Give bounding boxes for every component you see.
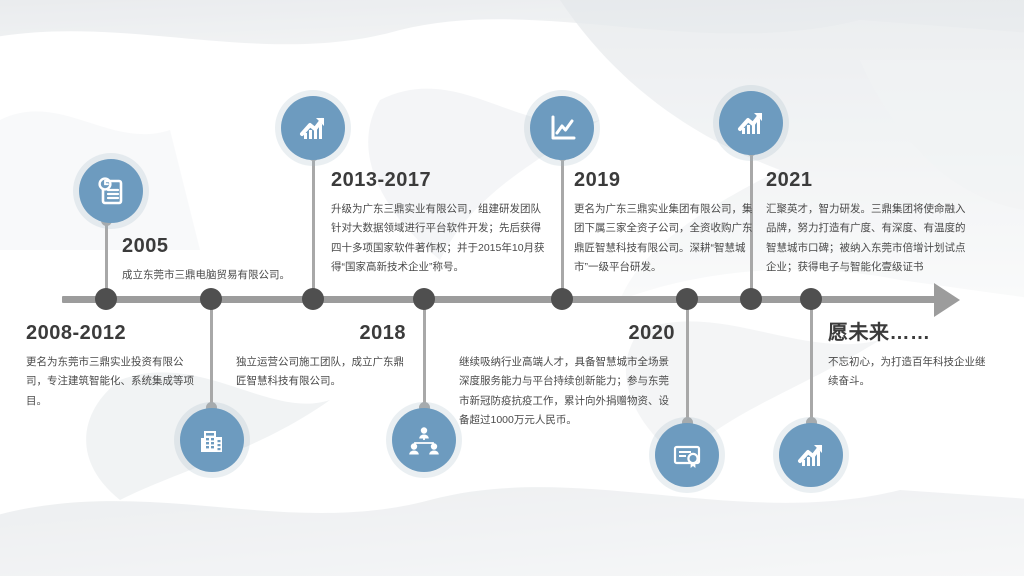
- axis-node-2021[interactable]: [740, 288, 762, 310]
- line-chart-icon: [544, 110, 580, 146]
- timeline-slide: 2005 成立东莞市三鼎电脑贸易有限公司。 2008-2012 更名为东莞市三鼎…: [0, 0, 1024, 576]
- stem-2008: [210, 298, 213, 408]
- milestone-year: 2021: [766, 169, 971, 191]
- milestone-2019: 2019 更名为广东三鼎实业集团有限公司，集团下属三家全资子公司，全资收购广东鼎…: [574, 169, 759, 278]
- icon-bubble-2021[interactable]: [719, 91, 783, 155]
- milestone-2018: 2018 独立运营公司施工团队，成立广东鼎匠智慧科技有限公司。: [236, 322, 406, 392]
- stem-future: [810, 298, 813, 423]
- milestone-description: 不忘初心，为打造百年科技企业继续奋斗。: [828, 353, 993, 392]
- milestone-description: 成立东莞市三鼎电脑贸易有限公司。: [122, 266, 322, 285]
- icon-bubble-2005[interactable]: [79, 159, 143, 223]
- bar-chart-growth-icon: [793, 437, 829, 473]
- milestone-year: 2005: [122, 235, 322, 257]
- axis-node-future[interactable]: [800, 288, 822, 310]
- icon-bubble-2013[interactable]: [281, 96, 345, 160]
- timeline-arrow-icon: [934, 283, 960, 317]
- milestone-year: 愿未来……: [828, 322, 993, 344]
- icon-bubble-future[interactable]: [779, 423, 843, 487]
- milestone-description: 升级为广东三鼎实业有限公司，组建研发团队针对大数据领域进行平台软件开发；先后获得…: [331, 200, 549, 278]
- stem-2018: [423, 298, 426, 408]
- icon-bubble-2019[interactable]: [530, 96, 594, 160]
- milestone-year: 2020: [459, 322, 675, 344]
- certificate-icon: [669, 437, 705, 473]
- document-clock-icon: [93, 173, 129, 209]
- milestone-year: 2019: [574, 169, 759, 191]
- icon-bubble-2018[interactable]: [392, 408, 456, 472]
- team-network-icon: [406, 422, 442, 458]
- milestone-description: 更名为广东三鼎实业集团有限公司，集团下属三家全资子公司，全资收购广东鼎匠智慧科技…: [574, 200, 759, 278]
- axis-node-2013[interactable]: [302, 288, 324, 310]
- milestone-2005: 2005 成立东莞市三鼎电脑贸易有限公司。: [122, 235, 322, 285]
- milestone-description: 汇聚英才，智力研发。三鼎集团将使命融入品牌，努力打造有广度、有深度、有温度的智慧…: [766, 200, 971, 278]
- icon-bubble-2020[interactable]: [655, 423, 719, 487]
- milestone-2008-2012: 2008-2012 更名为东莞市三鼎实业投资有限公司，专注建筑智能化、系统集成等…: [26, 322, 204, 411]
- milestone-year: 2008-2012: [26, 322, 204, 344]
- milestone-description: 更名为东莞市三鼎实业投资有限公司，专注建筑智能化、系统集成等项目。: [26, 353, 204, 411]
- axis-node-2005[interactable]: [95, 288, 117, 310]
- milestone-description: 继续吸纳行业高端人才，具备智慧城市全场景深度服务能力与平台持续创新能力；参与东莞…: [459, 353, 675, 431]
- stem-2020: [686, 298, 689, 423]
- milestone-year: 2018: [236, 322, 406, 344]
- bar-chart-growth-icon: [295, 110, 331, 146]
- milestone-description: 独立运营公司施工团队，成立广东鼎匠智慧科技有限公司。: [236, 353, 406, 392]
- axis-node-2018[interactable]: [413, 288, 435, 310]
- background-brush-decoration: [0, 0, 1024, 576]
- axis-node-2020[interactable]: [676, 288, 698, 310]
- icon-bubble-2008[interactable]: [180, 408, 244, 472]
- milestone-year: 2013-2017: [331, 169, 549, 191]
- axis-node-2008[interactable]: [200, 288, 222, 310]
- milestone-future: 愿未来…… 不忘初心，为打造百年科技企业继续奋斗。: [828, 322, 993, 392]
- milestone-2020: 2020 继续吸纳行业高端人才，具备智慧城市全场景深度服务能力与平台持续创新能力…: [459, 322, 675, 431]
- stem-2019: [561, 155, 564, 298]
- milestone-2021: 2021 汇聚英才，智力研发。三鼎集团将使命融入品牌，努力打造有广度、有深度、有…: [766, 169, 971, 278]
- milestone-2013-2017: 2013-2017 升级为广东三鼎实业有限公司，组建研发团队针对大数据领域进行平…: [331, 169, 549, 278]
- axis-node-2019[interactable]: [551, 288, 573, 310]
- stem-2005: [105, 220, 108, 298]
- bar-chart-growth-icon: [733, 105, 769, 141]
- office-building-icon: [194, 422, 230, 458]
